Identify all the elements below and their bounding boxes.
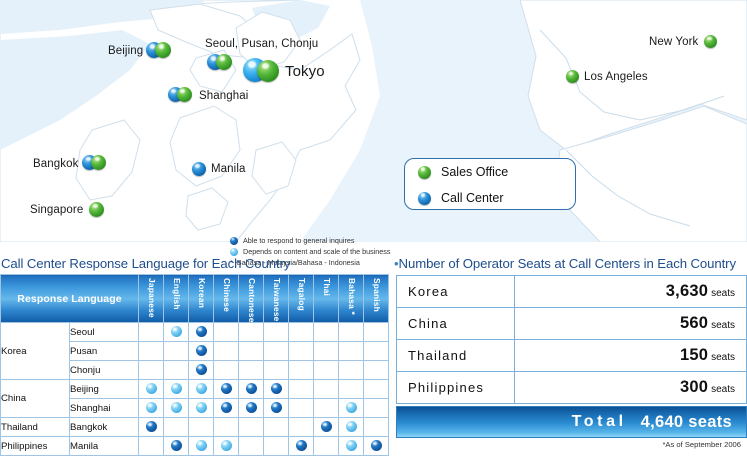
city-cell: Beijing bbox=[70, 380, 139, 399]
call-center-sphere bbox=[192, 162, 206, 176]
partial-response-icon bbox=[171, 383, 182, 394]
response-language-table: Response Language JapaneseEnglishKoreanC… bbox=[0, 274, 389, 456]
language-support-cell bbox=[289, 380, 314, 399]
language-support-cell bbox=[364, 380, 389, 399]
table-row: ChinaBeijing bbox=[1, 380, 389, 399]
marker-spheres-seoul bbox=[207, 54, 235, 72]
language-support-cell bbox=[314, 323, 339, 342]
language-support-cell bbox=[189, 418, 214, 437]
language-support-cell bbox=[264, 342, 289, 361]
city-label-beijing: Beijing bbox=[108, 45, 143, 57]
language-support-cell bbox=[164, 342, 189, 361]
city-label-shanghai: Shanghai bbox=[199, 90, 248, 102]
seats-value: 560 bbox=[680, 314, 708, 332]
language-column-label: Spanish bbox=[364, 276, 389, 322]
language-support-cell bbox=[314, 418, 339, 437]
language-support-cell bbox=[214, 399, 239, 418]
partial-response-icon bbox=[146, 402, 157, 413]
full-response-icon bbox=[221, 402, 232, 413]
country-cell: Korea bbox=[1, 323, 70, 380]
language-support-cell bbox=[239, 380, 264, 399]
marker-spheres-bangkok bbox=[82, 155, 109, 172]
table-row: KoreaSeoul bbox=[1, 323, 389, 342]
country-cell: China bbox=[1, 380, 70, 418]
language-support-cell bbox=[214, 418, 239, 437]
language-support-cell bbox=[139, 361, 164, 380]
full-response-icon bbox=[271, 402, 282, 413]
legend-row-full-response: Able to respond to general inquires bbox=[230, 236, 410, 246]
response-language-table-head: Response Language JapaneseEnglishKoreanC… bbox=[1, 275, 389, 323]
map-marker-los-angeles: Los Angeles bbox=[566, 70, 648, 83]
seats-value: 300 bbox=[680, 378, 708, 396]
sales-office-sphere bbox=[257, 60, 279, 82]
language-support-cell bbox=[214, 323, 239, 342]
language-support-cell bbox=[289, 342, 314, 361]
country-cell: Philippines bbox=[397, 372, 515, 404]
full-response-icon bbox=[196, 345, 207, 356]
language-support-cell bbox=[339, 418, 364, 437]
language-column-label: Bahasa * bbox=[339, 276, 364, 322]
country-cell: Thailand bbox=[397, 340, 515, 372]
marker-spheres-shanghai bbox=[168, 87, 195, 104]
left-table-title: Call Center Response Language for Each C… bbox=[1, 256, 290, 271]
language-column-header-5: Taiwanese bbox=[264, 275, 289, 323]
legend-label-call-center: Call Center bbox=[441, 191, 504, 205]
footnote: *As of September 2006 bbox=[0, 440, 741, 449]
sales-office-sphere bbox=[91, 155, 106, 170]
language-support-cell bbox=[189, 399, 214, 418]
language-column-label: Taiwanese bbox=[264, 276, 289, 322]
language-column-header-1: English bbox=[164, 275, 189, 323]
table-row: Korea3,630seats bbox=[397, 276, 747, 308]
language-support-cell bbox=[164, 418, 189, 437]
map-marker-bangkok: Bangkok bbox=[33, 155, 109, 172]
city-label-tokyo: Tokyo bbox=[285, 63, 325, 80]
language-column-header-0: Japanese bbox=[139, 275, 164, 323]
table-header-row: Response Language JapaneseEnglishKoreanC… bbox=[1, 275, 389, 323]
seats-unit: seats bbox=[711, 320, 735, 331]
sales-office-icon bbox=[418, 166, 431, 179]
response-language-table-body: KoreaSeoulPusanChonjuChinaBeijingShangha… bbox=[1, 323, 389, 456]
language-support-cell bbox=[364, 399, 389, 418]
city-cell: Chonju bbox=[70, 361, 139, 380]
seats-unit: seats bbox=[711, 384, 735, 395]
language-support-cell bbox=[264, 399, 289, 418]
language-column-header-3: Chinese bbox=[214, 275, 239, 323]
language-support-cell bbox=[264, 380, 289, 399]
seats-unit: seats bbox=[711, 352, 735, 363]
right-table-title-text: Number of Operator Seats at Call Centers… bbox=[399, 256, 736, 271]
language-support-cell bbox=[214, 342, 239, 361]
full-response-icon bbox=[221, 383, 232, 394]
city-label-seoul-pusan-chonju: Seoul, Pusan, Chonju bbox=[205, 38, 318, 50]
language-support-cell bbox=[164, 380, 189, 399]
operator-seats-table-body: Korea3,630seatsChina560seatsThailand150s… bbox=[397, 276, 747, 404]
language-support-cell bbox=[289, 418, 314, 437]
language-support-cell bbox=[139, 342, 164, 361]
language-support-cell bbox=[339, 323, 364, 342]
country-cell: Thailand bbox=[1, 418, 70, 437]
language-column-label: English bbox=[164, 276, 189, 322]
seats-cell: 3,630seats bbox=[515, 276, 747, 308]
total-seats-bar: Total 4,640 seats bbox=[396, 406, 747, 438]
language-support-cell bbox=[264, 323, 289, 342]
language-support-cell bbox=[364, 361, 389, 380]
city-cell: Shanghai bbox=[70, 399, 139, 418]
marker-spheres-beijing bbox=[146, 42, 174, 60]
map-marker-shanghai: Shanghai bbox=[168, 87, 248, 104]
language-support-cell bbox=[239, 342, 264, 361]
language-support-cell bbox=[139, 323, 164, 342]
language-support-cell bbox=[239, 323, 264, 342]
city-cell: Pusan bbox=[70, 342, 139, 361]
full-response-icon bbox=[246, 402, 257, 413]
full-response-icon bbox=[196, 364, 207, 375]
partial-response-icon bbox=[196, 402, 207, 413]
partial-response-icon bbox=[346, 402, 357, 413]
table-row: Philippines300seats bbox=[397, 372, 747, 404]
table-row: Thailand150seats bbox=[397, 340, 747, 372]
map-landmass-graphic bbox=[0, 0, 747, 242]
city-cell: Bangkok bbox=[70, 418, 139, 437]
map-marker-singapore: Singapore bbox=[30, 202, 104, 217]
language-support-cell bbox=[164, 361, 189, 380]
language-support-cell bbox=[339, 361, 364, 380]
language-support-cell bbox=[239, 399, 264, 418]
language-support-cell bbox=[289, 361, 314, 380]
language-column-header-8: Bahasa * bbox=[339, 275, 364, 323]
operator-seats-table: Korea3,630seatsChina560seatsThailand150s… bbox=[396, 275, 747, 404]
seats-cell: 150seats bbox=[515, 340, 747, 372]
city-label-bangkok: Bangkok bbox=[33, 158, 78, 170]
language-support-cell bbox=[139, 399, 164, 418]
legend-label-full-response: Able to respond to general inquires bbox=[243, 236, 354, 246]
language-support-cell bbox=[339, 380, 364, 399]
language-support-cell bbox=[189, 323, 214, 342]
partial-response-icon bbox=[346, 421, 357, 432]
table-row: ThailandBangkok bbox=[1, 418, 389, 437]
partial-response-icon bbox=[196, 383, 207, 394]
sales-office-sphere bbox=[89, 202, 104, 217]
full-response-icon bbox=[146, 421, 157, 432]
language-support-cell bbox=[314, 342, 339, 361]
sales-office-sphere bbox=[704, 35, 717, 48]
seats-cell: 560seats bbox=[515, 308, 747, 340]
language-column-label: Cantonese bbox=[239, 276, 264, 322]
seats-unit: seats bbox=[711, 288, 735, 299]
language-support-cell bbox=[214, 361, 239, 380]
sales-office-sphere bbox=[216, 54, 232, 70]
language-support-cell bbox=[339, 399, 364, 418]
language-support-cell bbox=[164, 399, 189, 418]
total-label: Total bbox=[572, 413, 627, 431]
language-column-label: Korean bbox=[189, 276, 214, 322]
language-support-cell bbox=[339, 342, 364, 361]
full-response-icon bbox=[321, 421, 332, 432]
language-support-cell bbox=[314, 399, 339, 418]
language-support-cell bbox=[364, 418, 389, 437]
language-column-header-7: Thai bbox=[314, 275, 339, 323]
seats-value: 150 bbox=[680, 346, 708, 364]
language-support-cell bbox=[264, 418, 289, 437]
language-column-header-9: Spanish bbox=[364, 275, 389, 323]
map-marker-tokyo: Tokyo bbox=[243, 58, 325, 84]
seats-value: 3,630 bbox=[666, 282, 708, 300]
language-column-label: Chinese bbox=[214, 276, 239, 322]
language-support-cell bbox=[189, 380, 214, 399]
language-support-cell bbox=[214, 380, 239, 399]
partial-response-icon bbox=[171, 326, 182, 337]
language-support-cell bbox=[364, 323, 389, 342]
full-response-icon bbox=[230, 237, 238, 245]
response-language-header: Response Language bbox=[1, 275, 139, 323]
map-marker-manila: Manila bbox=[192, 162, 245, 176]
sales-office-sphere bbox=[155, 42, 171, 58]
table-row: China560seats bbox=[397, 308, 747, 340]
sales-office-sphere bbox=[566, 70, 579, 83]
language-support-cell bbox=[364, 342, 389, 361]
map-marker-new-york: New York bbox=[649, 35, 717, 48]
city-label-manila: Manila bbox=[211, 163, 245, 175]
country-cell: Korea bbox=[397, 276, 515, 308]
language-column-label: Thai bbox=[314, 276, 339, 322]
language-column-label: Japanese bbox=[139, 276, 164, 322]
world-map: Beijing Seoul, Pusan, Chonju Tokyo Shang… bbox=[0, 0, 747, 242]
city-label-singapore: Singapore bbox=[30, 204, 83, 216]
language-support-cell bbox=[139, 380, 164, 399]
full-response-icon bbox=[271, 383, 282, 394]
partial-response-icon bbox=[146, 383, 157, 394]
total-value: 4,640 seats bbox=[641, 413, 732, 432]
right-table-title: •Number of Operator Seats at Call Center… bbox=[394, 256, 736, 271]
sales-office-sphere bbox=[177, 87, 192, 102]
legend-row-sales-office: Sales Office bbox=[405, 159, 575, 185]
language-column-header-6: Tagalog bbox=[289, 275, 314, 323]
country-cell: China bbox=[397, 308, 515, 340]
language-column-header-2: Korean bbox=[189, 275, 214, 323]
call-center-icon bbox=[418, 192, 431, 205]
map-legend: Sales Office Call Center bbox=[404, 158, 576, 210]
language-support-cell bbox=[239, 361, 264, 380]
partial-response-icon bbox=[171, 402, 182, 413]
city-label-new-york: New York bbox=[649, 36, 698, 48]
language-support-cell bbox=[289, 399, 314, 418]
seats-cell: 300seats bbox=[515, 372, 747, 404]
partial-response-icon bbox=[230, 248, 238, 256]
language-support-cell bbox=[164, 323, 189, 342]
language-support-cell bbox=[189, 361, 214, 380]
language-support-cell bbox=[289, 323, 314, 342]
language-support-cell bbox=[314, 380, 339, 399]
map-marker-beijing: Beijing bbox=[108, 42, 174, 60]
city-label-los-angeles: Los Angeles bbox=[584, 71, 648, 83]
language-support-cell bbox=[314, 361, 339, 380]
legend-label-sales-office: Sales Office bbox=[441, 165, 508, 179]
language-column-label: Tagalog bbox=[289, 276, 314, 322]
language-support-cell bbox=[264, 361, 289, 380]
language-support-cell bbox=[239, 418, 264, 437]
language-support-cell bbox=[139, 418, 164, 437]
legend-row-call-center: Call Center bbox=[405, 185, 575, 211]
full-response-icon bbox=[246, 383, 257, 394]
city-cell: Seoul bbox=[70, 323, 139, 342]
marker-spheres-tokyo bbox=[243, 58, 281, 84]
language-support-cell bbox=[189, 342, 214, 361]
language-column-header-4: Cantonese bbox=[239, 275, 264, 323]
full-response-icon bbox=[196, 326, 207, 337]
